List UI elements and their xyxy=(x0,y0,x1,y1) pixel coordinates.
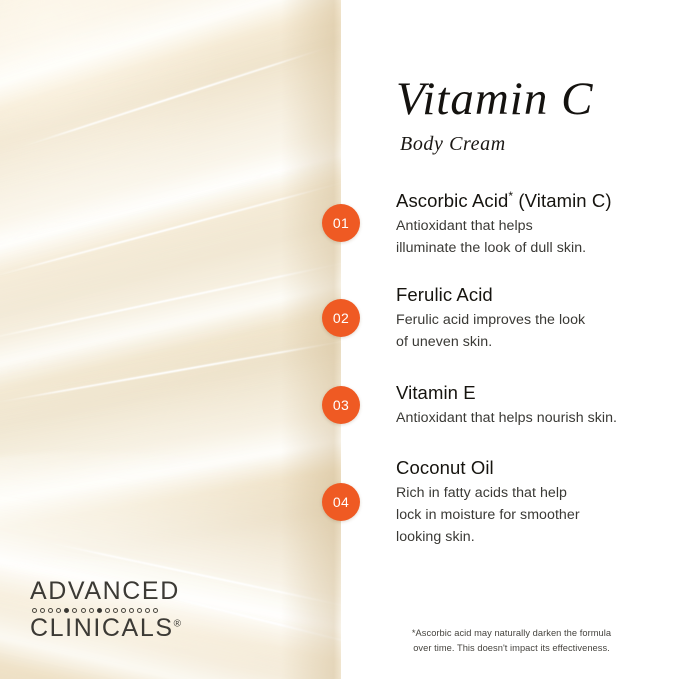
benefit-badge-04: 04 xyxy=(322,483,360,521)
brand-dot xyxy=(129,608,134,613)
brand-dot xyxy=(137,608,142,613)
footnote-disclaimer: *Ascorbic acid may naturally darken the … xyxy=(389,626,634,655)
content-column: Vitamin C Body Cream Ascorbic Acid* (Vit… xyxy=(341,0,679,679)
benefit-badge-02: 02 xyxy=(322,299,360,337)
benefit-title-02: Ferulic Acid xyxy=(396,284,676,305)
benefit-title-01: Ascorbic Acid* (Vitamin C) xyxy=(396,190,676,211)
benefit-title-03: Vitamin E xyxy=(396,382,676,403)
benefit-badge-03: 03 xyxy=(322,386,360,424)
brand-dot xyxy=(121,608,126,613)
brand-dot xyxy=(81,608,86,613)
brand-name-line2: CLINICALS® xyxy=(30,616,210,642)
brand-dot xyxy=(89,608,94,613)
benefit-description-04: Rich in fatty acids that help lock in mo… xyxy=(396,483,676,549)
benefit-title-02-text: Ferulic Acid xyxy=(396,284,493,305)
brand-dot xyxy=(40,608,45,613)
benefit-title-03-text: Vitamin E xyxy=(396,382,476,403)
benefit-badge-01: 01 xyxy=(322,204,360,242)
product-infographic: ADVANCED CLINICALS® Vitamin C Body Cream… xyxy=(0,0,679,679)
brand-dot xyxy=(56,608,61,613)
brand-name-line2-text: CLINICALS xyxy=(30,614,174,642)
benefit-title-04: Coconut Oil xyxy=(396,457,676,478)
benefit-description-03: Antioxidant that helps nourish skin. xyxy=(396,408,676,430)
benefit-title-01-suffix: (Vitamin C) xyxy=(513,190,612,211)
page-subtitle: Body Cream xyxy=(400,134,666,154)
brand-name-line1: ADVANCED xyxy=(30,579,210,605)
benefit-item-04: Coconut Oil Rich in fatty acids that hel… xyxy=(396,457,676,549)
brand-dot xyxy=(113,608,118,613)
benefit-title-01-text: Ascorbic Acid xyxy=(396,190,508,211)
brand-dot xyxy=(153,608,158,613)
benefit-description-01: Antioxidant that helps illuminate the lo… xyxy=(396,216,676,260)
benefit-description-02: Ferulic acid improves the look of uneven… xyxy=(396,310,676,354)
benefit-item-03: Vitamin E Antioxidant that helps nourish… xyxy=(396,382,676,430)
brand-dot xyxy=(145,608,150,613)
brand-dot xyxy=(105,608,110,613)
brand-logo: ADVANCED CLINICALS® xyxy=(30,579,210,641)
page-title: Vitamin C xyxy=(396,76,666,123)
benefit-item-01: Ascorbic Acid* (Vitamin C) Antioxidant t… xyxy=(396,190,676,260)
benefit-title-04-text: Coconut Oil xyxy=(396,457,494,478)
registered-trademark-icon: ® xyxy=(174,618,181,629)
cream-texture-photo: ADVANCED CLINICALS® xyxy=(0,0,341,679)
brand-dot xyxy=(64,608,69,613)
title-block: Vitamin C Body Cream xyxy=(396,76,666,154)
brand-dot xyxy=(48,608,53,613)
benefit-item-02: Ferulic Acid Ferulic acid improves the l… xyxy=(396,284,676,354)
panel-edge-shading xyxy=(281,0,341,679)
brand-dot xyxy=(72,608,77,613)
brand-dot xyxy=(32,608,37,613)
brand-dot xyxy=(97,608,102,613)
